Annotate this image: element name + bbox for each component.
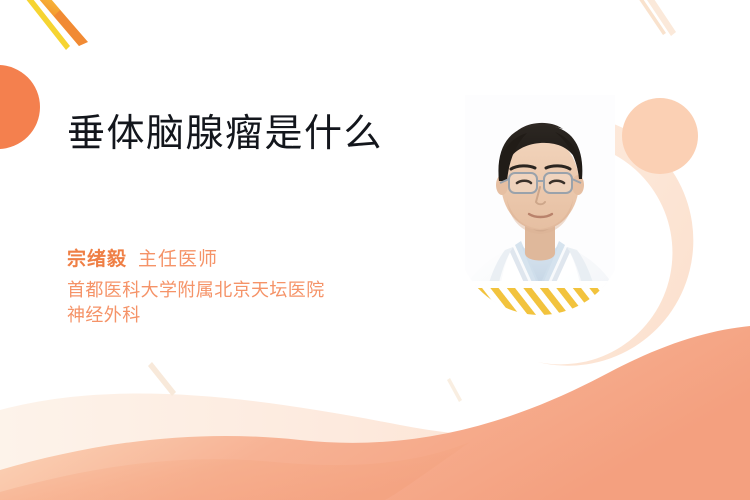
doctor-portrait — [455, 95, 665, 360]
doctor-portrait-container — [455, 95, 665, 360]
cream-stroke-bottom-left — [148, 362, 176, 396]
page-title: 垂体脑腺瘤是什么 — [67, 112, 467, 157]
doctor-name-line: 宗绪毅主任医师 — [67, 246, 325, 274]
doctor-department: 神经外科 — [67, 303, 325, 329]
title-block: 垂体脑腺瘤是什么 — [67, 112, 467, 157]
striped-semicircle — [455, 281, 633, 360]
cream-stroke-bottom-mid — [447, 378, 462, 402]
doctor-info-block: 宗绪毅主任医师 首都医科大学附属北京天坛医院 神经外科 — [67, 246, 325, 329]
video-cover-card: 垂体脑腺瘤是什么 宗绪毅主任医师 首都医科大学附属北京天坛医院 神经外科 — [0, 0, 750, 500]
portrait-photo — [455, 95, 665, 360]
doctor-job-title: 主任医师 — [138, 249, 218, 270]
orange-circle-left — [0, 65, 40, 149]
doctor-hospital: 首都医科大学附属北京天坛医院 — [67, 278, 325, 304]
doctor-name: 宗绪毅 — [67, 249, 127, 270]
